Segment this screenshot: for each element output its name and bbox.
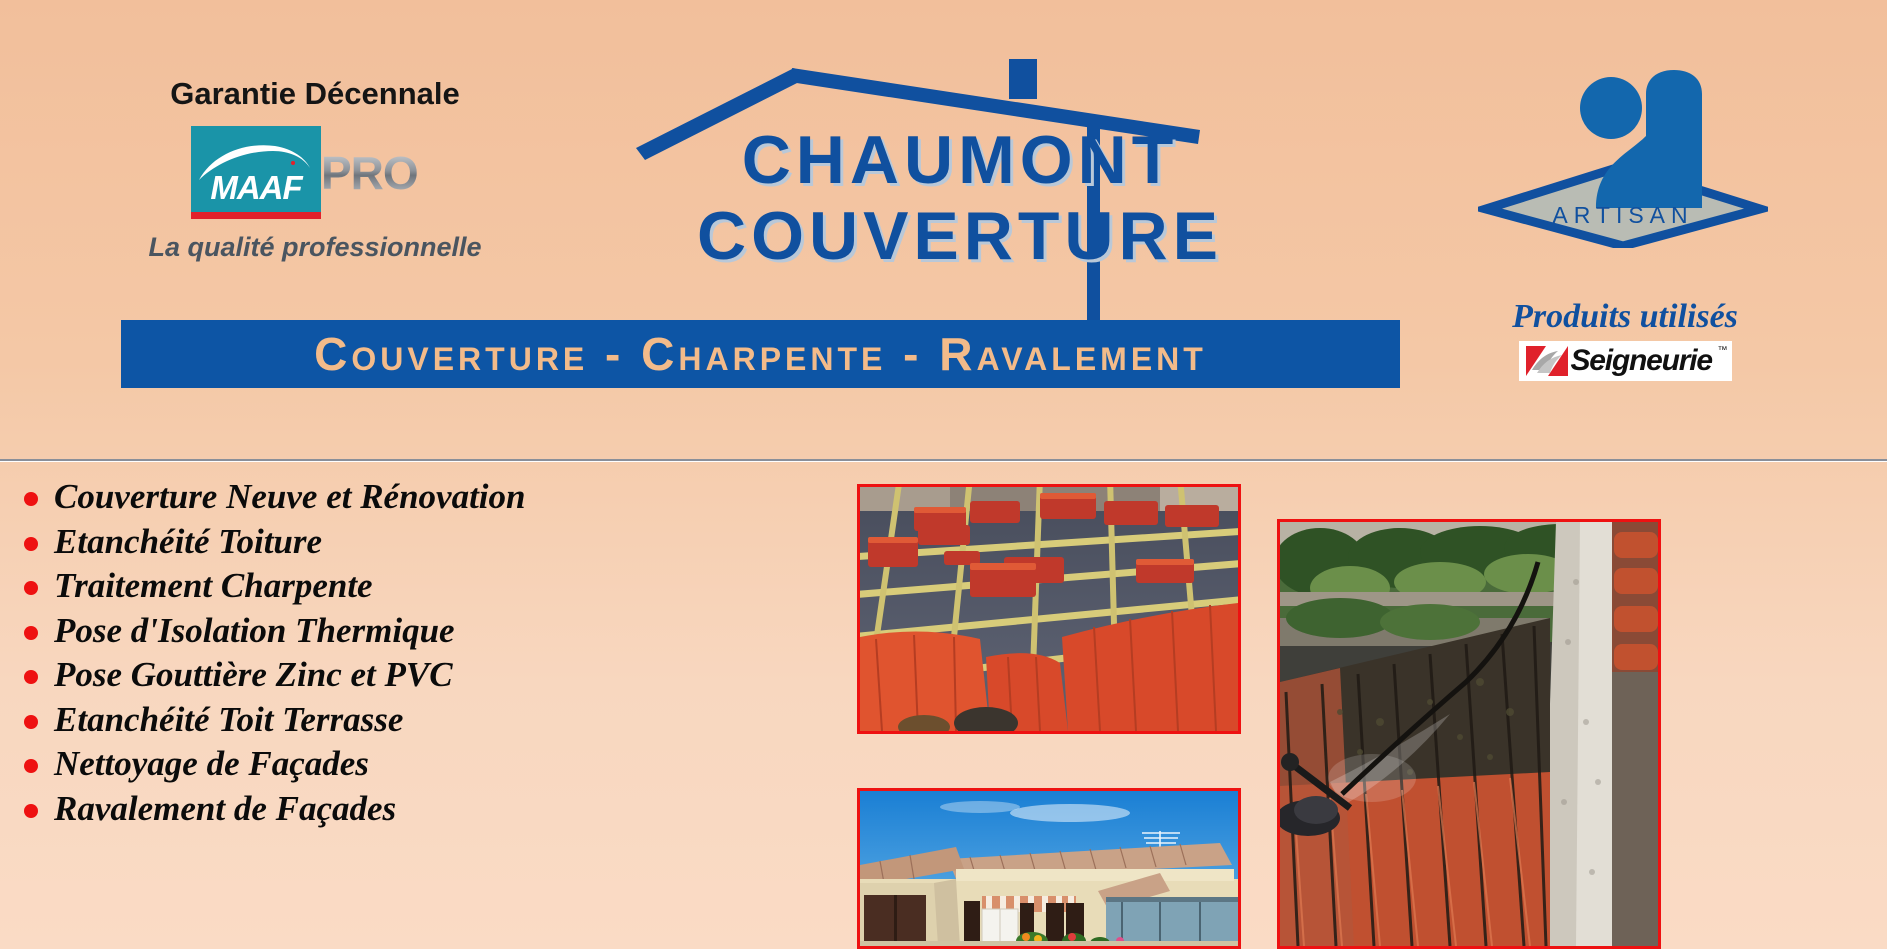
list-item-label: Couverture Neuve et Rénovation (54, 477, 526, 516)
list-item: Couverture Neuve et Rénovation (18, 475, 658, 520)
maaf-wordmark: MAAF (191, 171, 321, 204)
bullet-dot-icon (24, 670, 38, 684)
maaf-tagline: La qualité professionnelle (105, 232, 525, 263)
maaf-pro-suffix: PRO (321, 150, 418, 196)
service-banner: Couverture - Charpente - Ravalement (121, 320, 1400, 388)
service-banner-text: Couverture - Charpente - Ravalement (314, 331, 1207, 377)
header-divider (0, 459, 1887, 461)
artisan-label: ARTISAN (1552, 202, 1693, 228)
services-list: Couverture Neuve et Rénovation Etanchéit… (18, 475, 658, 831)
list-item-label: Etanchéité Toit Terrasse (54, 700, 403, 739)
site-header: Garantie Décennale MAAF PRO La qualité p… (0, 0, 1887, 460)
roof-pressure-cleaning-image (1280, 522, 1658, 946)
page-root: Garantie Décennale MAAF PRO La qualité p… (0, 0, 1887, 949)
products-used-block: Produits utilisés Seigneurie ™ (1455, 300, 1795, 381)
list-item: Pose d'Isolation Thermique (18, 609, 658, 654)
artisan-logo: ARTISAN (1478, 58, 1768, 248)
bullet-dot-icon (24, 804, 38, 818)
company-name-line-2: COUVERTURE (600, 202, 1320, 270)
list-item: Etanchéité Toit Terrasse (18, 698, 658, 743)
bullet-dot-icon (24, 715, 38, 729)
company-name-line-1: CHAUMONT (600, 126, 1320, 194)
list-item-label: Nettoyage de Façades (54, 744, 369, 783)
seigneurie-trademark: ™ (1718, 345, 1728, 356)
list-item-label: Etanchéité Toiture (54, 522, 322, 561)
company-logo: CHAUMONT COUVERTURE (600, 48, 1320, 348)
maaf-logo-box: MAAF (191, 126, 321, 212)
company-name: CHAUMONT COUVERTURE (600, 126, 1320, 270)
bullet-dot-icon (24, 581, 38, 595)
maaf-red-underline (191, 212, 321, 219)
list-item: Traitement Charpente (18, 564, 658, 609)
list-item-label: Pose Gouttière Zinc et PVC (54, 655, 453, 694)
artisan-figure-diamond-icon: ARTISAN (1478, 58, 1768, 248)
list-item: Pose Gouttière Zinc et PVC (18, 653, 658, 698)
list-item-label: Ravalement de Façades (54, 789, 396, 828)
bullet-dot-icon (24, 626, 38, 640)
list-item: Nettoyage de Façades (18, 742, 658, 787)
seigneurie-logo: Seigneurie ™ (1519, 341, 1732, 381)
photo-roof-cleaning (1277, 519, 1661, 949)
bullet-dot-icon (24, 492, 38, 506)
seigneurie-wordmark: Seigneurie (1571, 343, 1712, 379)
list-item-label: Traitement Charpente (54, 566, 373, 605)
bullet-dot-icon (24, 537, 38, 551)
seigneurie-brush-icon (1524, 344, 1570, 378)
photo-roof-tiles (857, 484, 1241, 734)
list-item: Ravalement de Façades (18, 787, 658, 832)
roof-tiles-installation-image (860, 487, 1238, 731)
bullet-dot-icon (24, 759, 38, 773)
photo-renovated-house (857, 788, 1241, 949)
list-item: Etanchéité Toiture (18, 520, 658, 565)
list-item-label: Pose d'Isolation Thermique (54, 611, 455, 650)
products-used-title: Produits utilisés (1455, 300, 1795, 334)
renovated-house-facade-image (860, 791, 1238, 946)
maaf-pro-block: Garantie Décennale MAAF PRO La qualité p… (105, 78, 525, 263)
maaf-logo: MAAF PRO (105, 126, 525, 221)
main-content: Couverture Neuve et Rénovation Etanchéit… (0, 462, 1887, 949)
guarantee-label: Garantie Décennale (105, 78, 525, 109)
